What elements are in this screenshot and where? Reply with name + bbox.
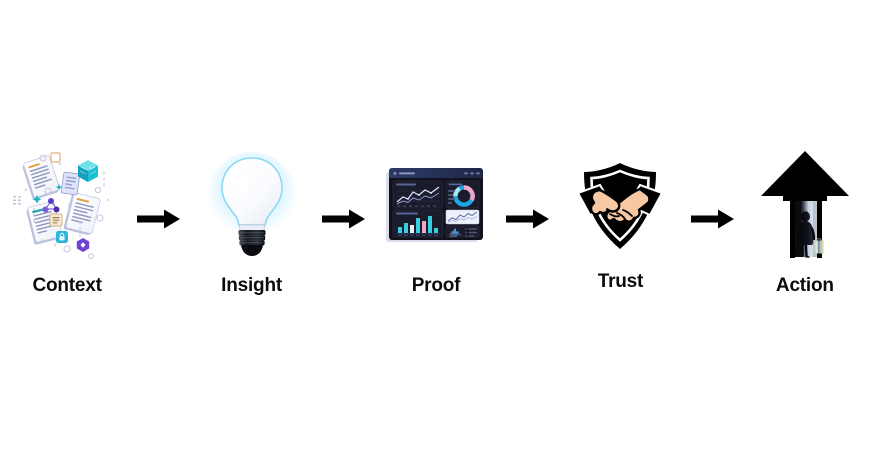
handshake-shield-icon [565,152,675,262]
step-label-insight: Insight [221,276,282,295]
connector-4 [688,152,738,322]
scattered-documents-icon [12,152,122,262]
step-label-trust: Trust [598,272,643,291]
analytics-dashboard-icon [381,152,491,262]
step-label-action: Action [776,276,834,295]
step-trust[interactable]: Trust [553,152,687,322]
process-flow-diagram: Context [0,0,872,473]
arrow-right-icon [691,207,735,231]
step-proof[interactable]: Proof [369,152,503,322]
step-action[interactable]: Action [738,152,872,322]
step-label-context: Context [32,276,101,295]
arrow-right-icon [506,207,550,231]
step-label-proof: Proof [412,276,461,295]
upward-arrow-businessman-icon [750,152,860,262]
arrow-right-icon [137,207,181,231]
connector-3 [503,152,553,322]
connector-2 [319,152,369,322]
connector-1 [134,152,184,322]
step-insight[interactable]: Insight [184,152,318,322]
lightbulb-icon [197,152,307,262]
step-context[interactable]: Context [0,152,134,322]
arrow-right-icon [322,207,366,231]
